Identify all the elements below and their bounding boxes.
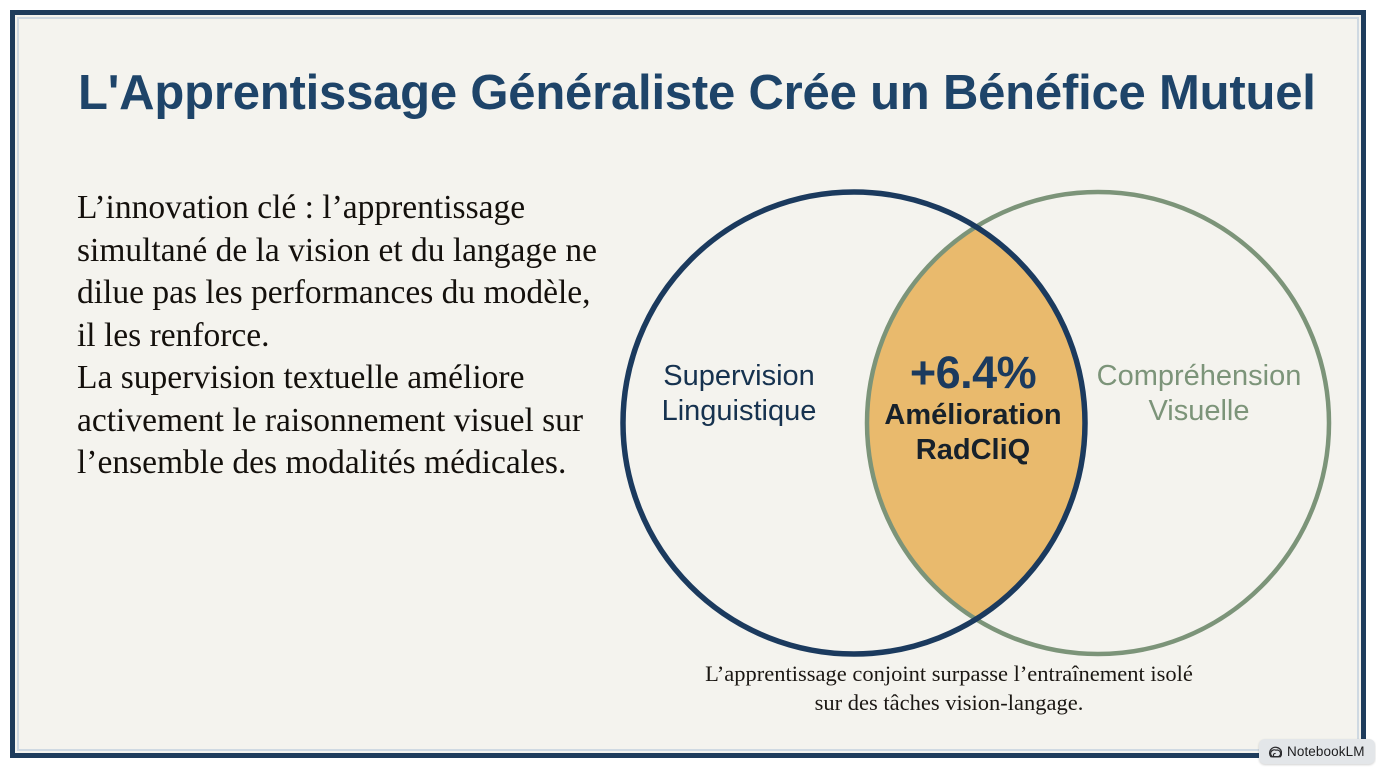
notebooklm-spiral-icon xyxy=(1267,745,1282,759)
diagram-caption: L’apprentissage conjoint surpasse l’entr… xyxy=(639,659,1259,718)
notebooklm-watermark-label: NotebookLM xyxy=(1287,744,1365,759)
venn-label-linguistic: Supervision Linguistique xyxy=(629,359,849,430)
slide-content-area: L'Apprentissage Généraliste Crée un Béné… xyxy=(19,19,1357,749)
body-copy: L’innovation clé : l’apprentissage simul… xyxy=(77,187,607,485)
page-title: L'Apprentissage Généraliste Crée un Béné… xyxy=(78,67,1308,120)
body-paragraph-1: L’innovation clé : l’apprentissage simul… xyxy=(77,187,607,357)
improvement-metric: Amélioration RadCliQ xyxy=(857,398,1089,468)
slide-canvas: L'Apprentissage Généraliste Crée un Béné… xyxy=(0,0,1376,768)
venn-intersection-label: +6.4% Amélioration RadCliQ xyxy=(857,349,1089,468)
venn-diagram: Supervision Linguistique Compréhension V… xyxy=(589,159,1357,699)
venn-label-visual: Compréhension Visuelle xyxy=(1081,359,1317,430)
improvement-value: +6.4% xyxy=(857,349,1089,396)
body-paragraph-2: La supervision textuelle améliore active… xyxy=(77,357,607,485)
notebooklm-watermark: NotebookLM xyxy=(1259,739,1375,764)
